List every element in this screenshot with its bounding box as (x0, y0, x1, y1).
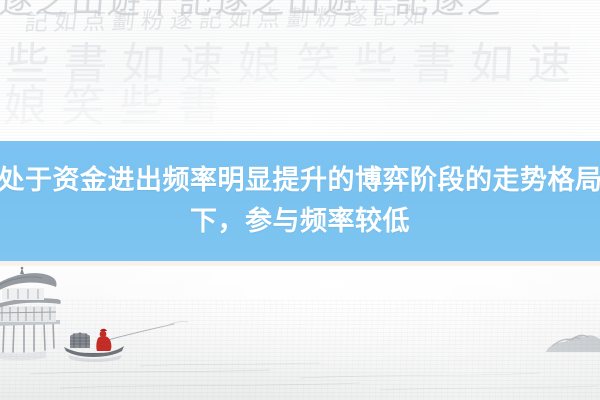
boat-canopy-icon (70, 332, 90, 348)
calligraphy-glyph-row-3: 些書如速娘笑些書如速娘笑些書 (0, 44, 600, 142)
water-ripples (30, 363, 598, 390)
boatman-icon (96, 329, 111, 351)
ink-landscape-svg (0, 266, 600, 400)
title-band: 处于资金进出频率明显提升的博弈阶段的走势格局 下，参与频率较低 (0, 141, 600, 261)
distant-shore-icon (546, 335, 600, 352)
calligraphy-backdrop: 遂之山遊千記遂之山遊千記遂之 記如点劃粉遂記如点劃粉遂記如 些書如速娘笑些書如速… (0, 0, 600, 142)
title-line-1: 处于资金进出频率明显提升的博弈阶段的走势格局 (0, 160, 600, 201)
fishing-boat-icon (64, 329, 124, 362)
fishing-line-icon (108, 324, 174, 340)
pavilion-icon (0, 267, 61, 361)
lake-scene (0, 266, 600, 400)
title-line-2: 下，参与频率较低 (190, 201, 410, 242)
promo-banner: 遂之山遊千記遂之山遊千記遂之 記如点劃粉遂記如点劃粉遂記如 些書如速娘笑些書如速… (0, 0, 600, 400)
